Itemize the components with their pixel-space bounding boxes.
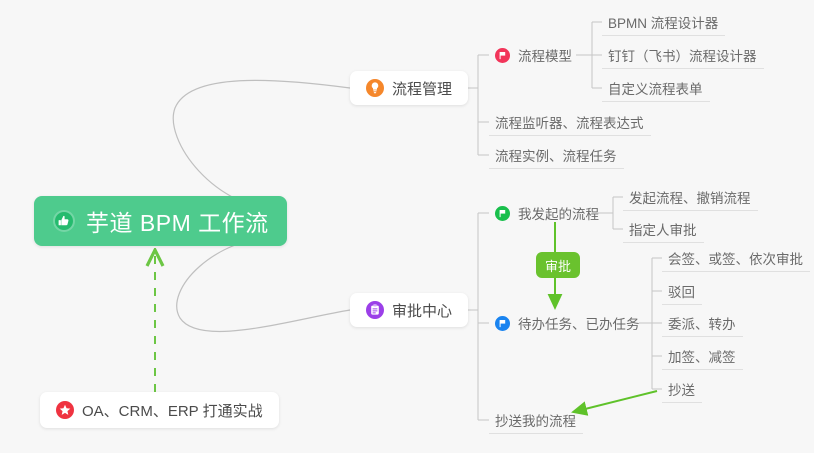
leaf-label: 抄送 (668, 379, 695, 399)
node-todo-done-tasks[interactable]: 待办任务、已办任务 (489, 309, 647, 337)
leaf-process-instance[interactable]: 流程实例、流程任务 (489, 141, 624, 169)
node-label-my-initiated: 我发起的流程 (518, 203, 599, 223)
leaf-bpmn-designer[interactable]: BPMN 流程设计器 (602, 8, 725, 36)
leaf-label: 流程实例、流程任务 (495, 145, 617, 165)
leaf-cc-to-me[interactable]: 抄送我的流程 (489, 406, 583, 434)
leaf-label: 委派、转办 (668, 313, 736, 333)
leaf-label: 流程监听器、流程表达式 (495, 112, 644, 132)
leaf-label: 发起流程、撤销流程 (629, 187, 751, 207)
leaf-label: 钉钉（飞书）流程设计器 (608, 45, 757, 65)
node-process-model[interactable]: 流程模型 (489, 41, 579, 69)
leaf-label: 驳回 (668, 281, 695, 301)
branch-label-approval-center: 审批中心 (392, 300, 452, 321)
leaf-countersign[interactable]: 会签、或签、依次审批 (662, 244, 810, 272)
clipboard-icon (366, 301, 384, 319)
leaf-add-remove-sign[interactable]: 加签、减签 (662, 342, 743, 370)
tag-label: 审批 (545, 256, 571, 275)
lightbulb-icon (366, 79, 384, 97)
leaf-label: BPMN 流程设计器 (608, 12, 718, 32)
node-label-todo-done-tasks: 待办任务、已办任务 (518, 313, 640, 333)
branch-label-process-management: 流程管理 (392, 78, 452, 99)
leaf-assignee-approval[interactable]: 指定人审批 (623, 215, 704, 243)
leaf-dingtalk-designer[interactable]: 钉钉（飞书）流程设计器 (602, 41, 764, 69)
footer-node-label: OA、CRM、ERP 打通实战 (82, 400, 263, 421)
leaf-process-listener[interactable]: 流程监听器、流程表达式 (489, 108, 651, 136)
node-my-initiated[interactable]: 我发起的流程 (489, 199, 606, 227)
leaf-custom-form[interactable]: 自定义流程表单 (602, 74, 710, 102)
leaf-cc[interactable]: 抄送 (662, 375, 702, 403)
root-label: 芋道 BPM 工作流 (86, 204, 269, 238)
flag-icon (495, 206, 510, 221)
leaf-label: 加签、减签 (668, 346, 736, 366)
flag-icon (495, 316, 510, 331)
leaf-label: 指定人审批 (629, 219, 697, 239)
thumbs-up-icon (52, 209, 76, 233)
flag-icon (495, 48, 510, 63)
leaf-label: 抄送我的流程 (495, 410, 576, 430)
tag-approval[interactable]: 审批 (536, 252, 580, 278)
leaf-start-cancel-process[interactable]: 发起流程、撤销流程 (623, 183, 758, 211)
leaf-label: 会签、或签、依次审批 (668, 248, 803, 268)
branch-node-process-management[interactable]: 流程管理 (350, 71, 468, 105)
leaf-label: 自定义流程表单 (608, 78, 703, 98)
root-node[interactable]: 芋道 BPM 工作流 (34, 196, 287, 246)
leaf-reject[interactable]: 驳回 (662, 277, 702, 305)
mindmap-canvas: 芋道 BPM 工作流 流程管理 流程模型 BPMN 流程设计器 钉钉（飞书）流程 (0, 0, 814, 453)
footer-node-integration-practice[interactable]: OA、CRM、ERP 打通实战 (40, 392, 279, 428)
branch-node-approval-center[interactable]: 审批中心 (350, 293, 468, 327)
leaf-delegate-transfer[interactable]: 委派、转办 (662, 309, 743, 337)
node-label-process-model: 流程模型 (518, 45, 572, 65)
star-icon (56, 401, 74, 419)
